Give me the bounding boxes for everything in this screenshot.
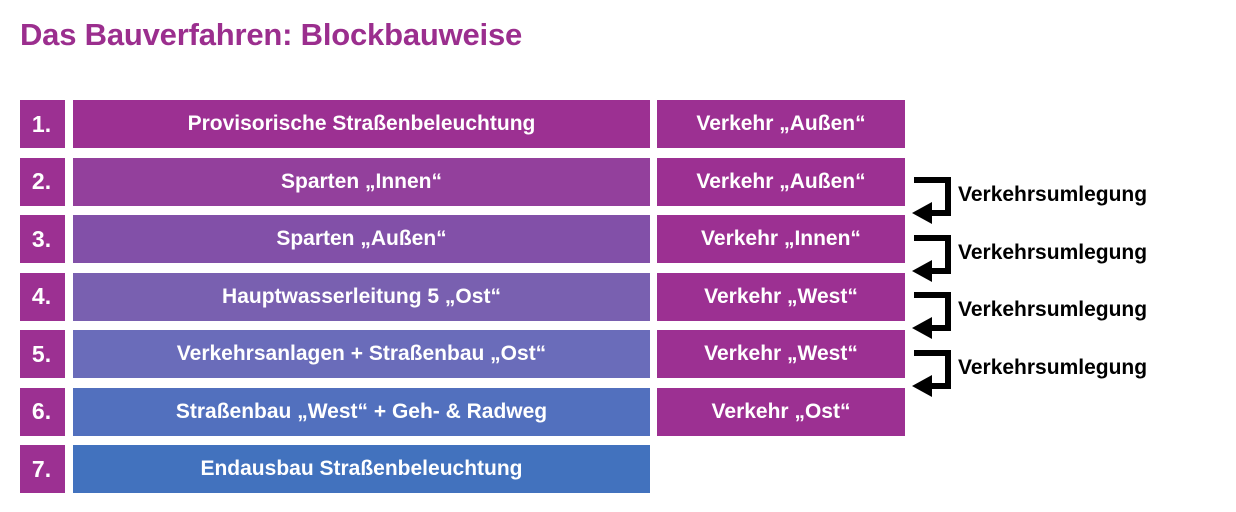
traffic-state-box: Verkehr „West“ <box>657 273 905 321</box>
phase-task-bar: Provisorische Straßenbeleuchtung <box>73 100 650 148</box>
reroute-label: Verkehrsumlegung <box>958 356 1147 380</box>
traffic-state-box: Verkehr „Außen“ <box>657 100 905 148</box>
phase-number-box: 6. <box>20 388 65 436</box>
arrow-head <box>912 375 932 397</box>
reroute-item: Verkehrsumlegung <box>910 283 1230 339</box>
traffic-state-box: Verkehr „West“ <box>657 330 905 378</box>
phase-number-box: 2. <box>20 158 65 206</box>
phase-number-box: 3. <box>20 215 65 263</box>
phase-task-bar: Sparten „Innen“ <box>73 158 650 206</box>
phase-row: 1.Provisorische StraßenbeleuchtungVerkeh… <box>0 100 1236 148</box>
reroute-item: Verkehrsumlegung <box>910 168 1230 224</box>
arrow-head <box>912 260 932 282</box>
reroute-arrow-icon <box>910 168 956 224</box>
phase-task-bar: Endausbau Straßenbeleuchtung <box>73 445 650 493</box>
phase-task-bar: Straßenbau „West“ + Geh- & Radweg <box>73 388 650 436</box>
page-title: Das Bauverfahren: Blockbauweise <box>20 17 522 53</box>
arrow-head <box>912 317 932 339</box>
reroute-item: Verkehrsumlegung <box>910 341 1230 397</box>
diagram-canvas: Das Bauverfahren: Blockbauweise 1.Provis… <box>0 0 1236 512</box>
arrow-head <box>912 202 932 224</box>
traffic-state-box: Verkehr „Außen“ <box>657 158 905 206</box>
phase-row: 7.Endausbau Straßenbeleuchtung <box>0 445 1236 493</box>
reroute-label: Verkehrsumlegung <box>958 183 1147 207</box>
reroute-label: Verkehrsumlegung <box>958 241 1147 265</box>
reroute-label: Verkehrsumlegung <box>958 298 1147 322</box>
traffic-state-box: Verkehr „Innen“ <box>657 215 905 263</box>
reroute-arrow-icon <box>910 341 956 397</box>
reroute-arrow-icon <box>910 283 956 339</box>
phase-number-box: 7. <box>20 445 65 493</box>
reroute-item: Verkehrsumlegung <box>910 226 1230 282</box>
phase-task-bar: Verkehrsanlagen + Straßenbau „Ost“ <box>73 330 650 378</box>
reroute-arrow-icon <box>910 226 956 282</box>
phase-task-bar: Hauptwasserleitung 5 „Ost“ <box>73 273 650 321</box>
phase-number-box: 5. <box>20 330 65 378</box>
traffic-state-box: Verkehr „Ost“ <box>657 388 905 436</box>
phase-task-bar: Sparten „Außen“ <box>73 215 650 263</box>
phase-number-box: 1. <box>20 100 65 148</box>
phase-number-box: 4. <box>20 273 65 321</box>
